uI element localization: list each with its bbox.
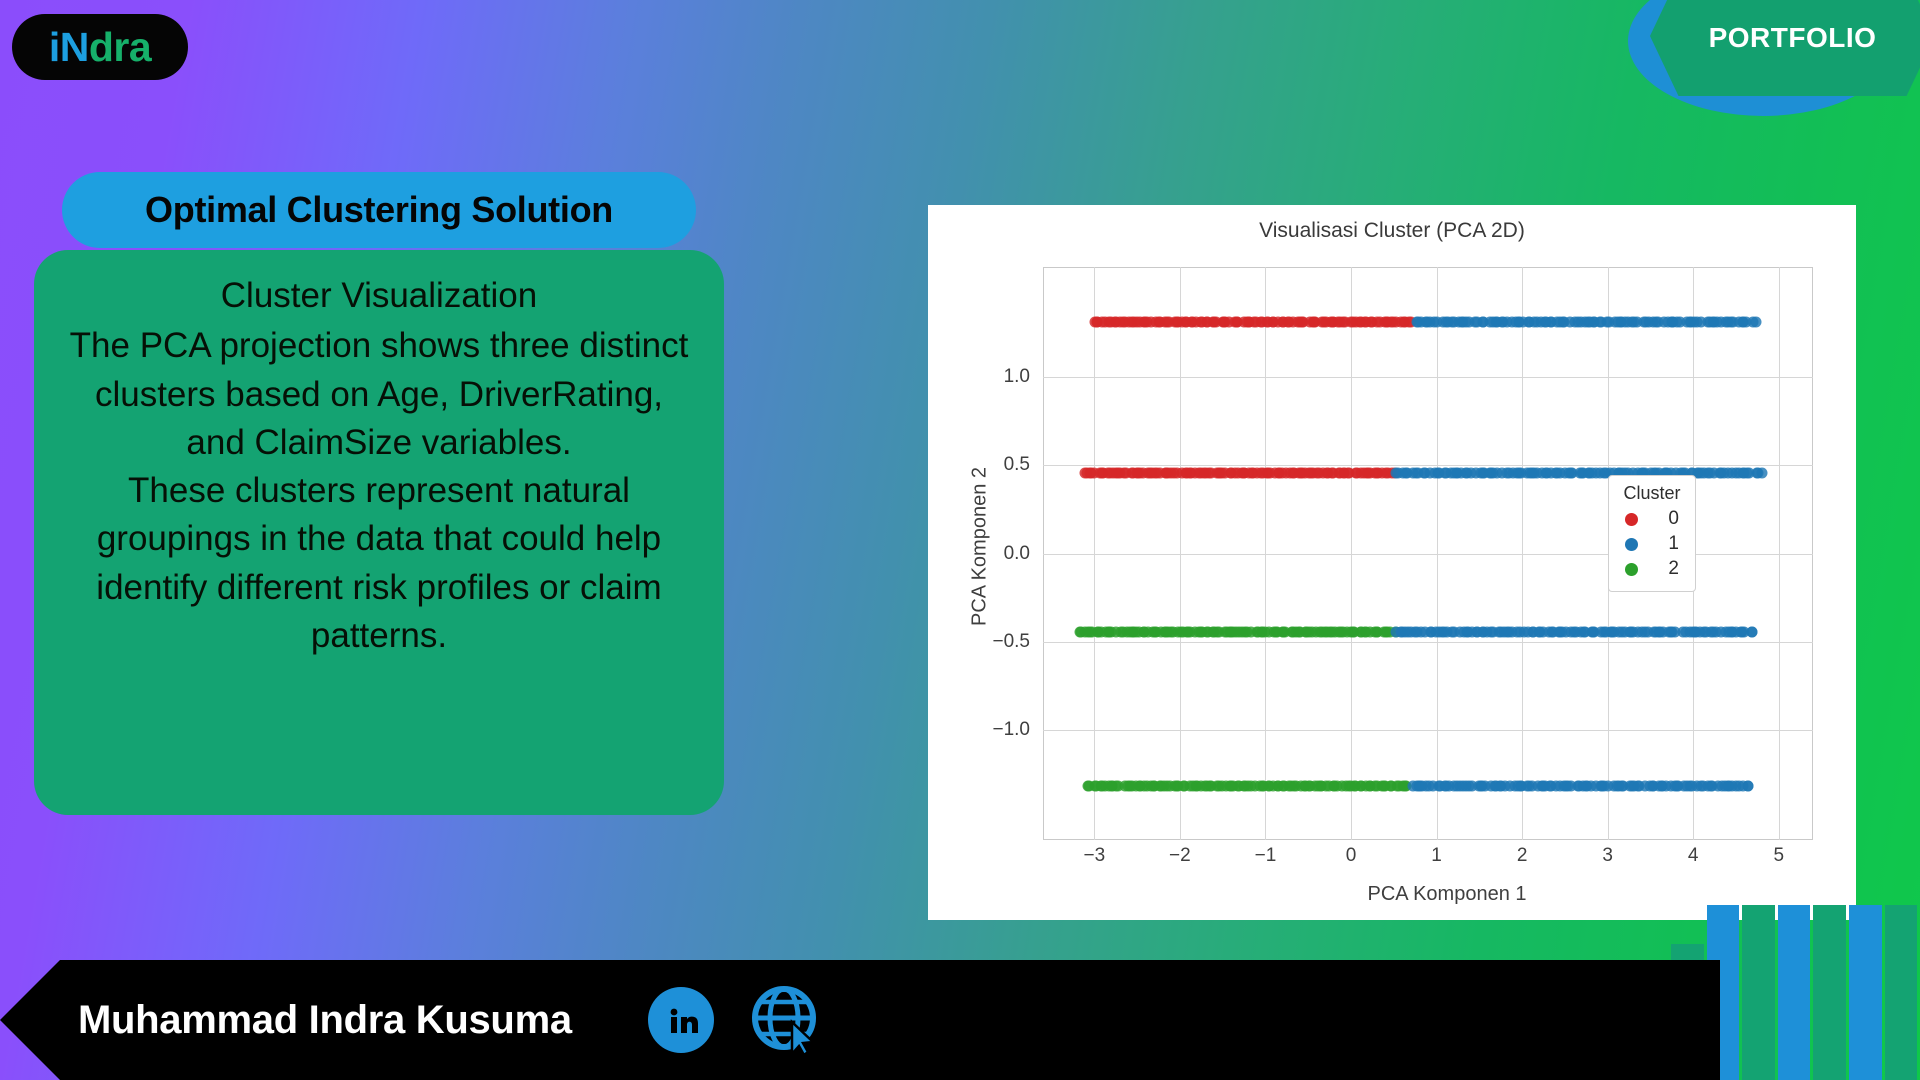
legend-entry-label: 0	[1668, 508, 1679, 530]
chart-x-axis-label: PCA Komponen 1	[928, 883, 1856, 906]
legend-entry-label: 1	[1668, 533, 1679, 555]
x-axis-tick-label: −2	[1169, 845, 1191, 867]
portfolio-badge-label: PORTFOLIO	[1709, 18, 1877, 54]
section-heading-label: Optimal Clustering Solution	[145, 189, 613, 231]
scatter-point	[1751, 316, 1762, 327]
y-axis-tick-label: −1.0	[992, 719, 1030, 741]
portfolio-badge-green-hexagon: PORTFOLIO	[1650, 0, 1920, 96]
gridline-horizontal	[1043, 554, 1813, 555]
x-axis-tick-label: −3	[1083, 845, 1105, 867]
footer-social-icons	[648, 984, 822, 1056]
chart-y-axis-label: PCA Komponen 2	[969, 417, 992, 677]
brand-logo-text-part2: dra	[89, 24, 151, 70]
scatter-point	[1756, 468, 1767, 479]
legend-entry-label: 2	[1668, 558, 1679, 580]
section-heading-pill: Optimal Clustering Solution	[62, 172, 696, 248]
scatter-point	[1742, 781, 1753, 792]
chart-card: Visualisasi Cluster (PCA 2D) PCA Kompone…	[928, 205, 1856, 920]
x-axis-tick-label: 4	[1688, 845, 1699, 867]
decorative-bar	[1813, 905, 1846, 1080]
y-axis-tick-label: 0.0	[1004, 543, 1030, 565]
gridline-horizontal	[1043, 642, 1813, 643]
description-paragraph-1: Cluster Visualization	[221, 272, 537, 320]
chart-legend-entry[interactable]: 1	[1621, 533, 1683, 555]
chart-legend-entries: 012	[1621, 508, 1683, 580]
decorative-bar	[1778, 905, 1811, 1080]
portfolio-badge: PORTFOLIO	[1628, 0, 1920, 126]
brand-logo: iNdra	[12, 14, 188, 80]
website-globe-icon[interactable]	[750, 984, 822, 1056]
description-paragraph-3: These clusters represent natural groupin…	[62, 467, 696, 660]
decorative-bar	[1849, 905, 1882, 1080]
description-paragraph-2: The PCA projection shows three distinct …	[62, 322, 696, 467]
x-axis-tick-label: −1	[1255, 845, 1277, 867]
legend-swatch-icon	[1625, 513, 1638, 526]
y-axis-tick-label: 0.5	[1004, 454, 1030, 476]
gridline-horizontal	[1043, 377, 1813, 378]
decorative-bar	[1742, 905, 1775, 1080]
footer-banner: Muhammad Indra Kusuma	[0, 960, 1720, 1080]
brand-logo-text-part1: iN	[49, 24, 89, 70]
chart-legend: Cluster 012	[1608, 475, 1696, 592]
legend-swatch-icon	[1625, 538, 1638, 551]
chart-legend-entry[interactable]: 2	[1621, 558, 1683, 580]
chart-legend-title: Cluster	[1621, 483, 1683, 504]
scatter-point	[1746, 627, 1757, 638]
brand-logo-text: iNdra	[49, 27, 151, 68]
x-axis-tick-label: 1	[1431, 845, 1442, 867]
decorative-bar	[1885, 905, 1918, 1080]
y-axis-tick-label: −0.5	[992, 631, 1030, 653]
x-axis-tick-label: 0	[1346, 845, 1357, 867]
slide-canvas: iNdra PORTFOLIO Optimal Clustering Solut…	[0, 0, 1920, 1080]
legend-swatch-icon	[1625, 563, 1638, 576]
x-axis-tick-label: 3	[1602, 845, 1613, 867]
x-axis-tick-label: 2	[1517, 845, 1528, 867]
description-card: Cluster Visualization The PCA projection…	[34, 250, 724, 815]
gridline-horizontal	[1043, 730, 1813, 731]
footer-author-name: Muhammad Indra Kusuma	[78, 998, 572, 1043]
x-axis-tick-label: 5	[1773, 845, 1784, 867]
chart-legend-entry[interactable]: 0	[1621, 508, 1683, 530]
linkedin-icon[interactable]	[648, 987, 714, 1053]
chart-title: Visualisasi Cluster (PCA 2D)	[928, 219, 1856, 243]
gridline-horizontal	[1043, 465, 1813, 466]
y-axis-tick-label: 1.0	[1004, 366, 1030, 388]
scatter-plot-area: −3−2−10123451.00.50.0−0.5−1.0	[1043, 267, 1813, 840]
